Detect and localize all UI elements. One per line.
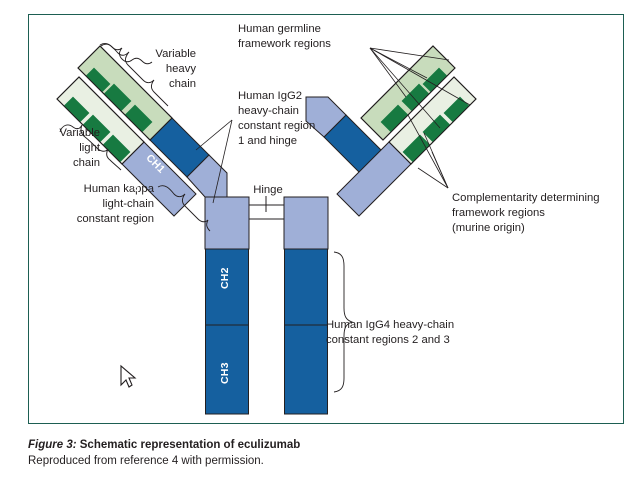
figure-attribution: Reproduced from reference 4 with permiss… bbox=[28, 453, 628, 469]
hinge-connector bbox=[249, 196, 284, 219]
label-complementarity-determining-framework-regions: Complementarity determining framework re… bbox=[452, 191, 624, 236]
label-human-igg2-constant-region-1-and-hinge: Human IgG2 heavy-chain constant region 1… bbox=[238, 89, 350, 149]
figure-number: Figure 3: bbox=[28, 439, 77, 451]
antibody-schematic-diagram bbox=[0, 0, 633, 485]
figure-root: Variable heavy chain Variable light chai… bbox=[0, 0, 633, 485]
label-variable-light-chain: Variable light chain bbox=[6, 126, 100, 171]
fc-right-stem bbox=[284, 197, 328, 414]
label-variable-heavy-chain: Variable heavy chain bbox=[108, 47, 196, 92]
figure-caption: Figure 3: Schematic representation of ec… bbox=[28, 437, 628, 470]
domain-tag-ch2: CH2 bbox=[219, 267, 231, 289]
label-human-igg4-constant-regions-2-and-3: Human IgG4 heavy-chain constant regions … bbox=[326, 318, 506, 348]
domain-tag-ch3: CH3 bbox=[219, 362, 231, 384]
label-hinge: Hinge bbox=[242, 183, 294, 198]
mouse-cursor bbox=[121, 366, 135, 387]
figure-title: Schematic representation of eculizumab bbox=[77, 439, 301, 451]
label-human-germline-framework-regions: Human germline framework regions bbox=[238, 22, 368, 52]
